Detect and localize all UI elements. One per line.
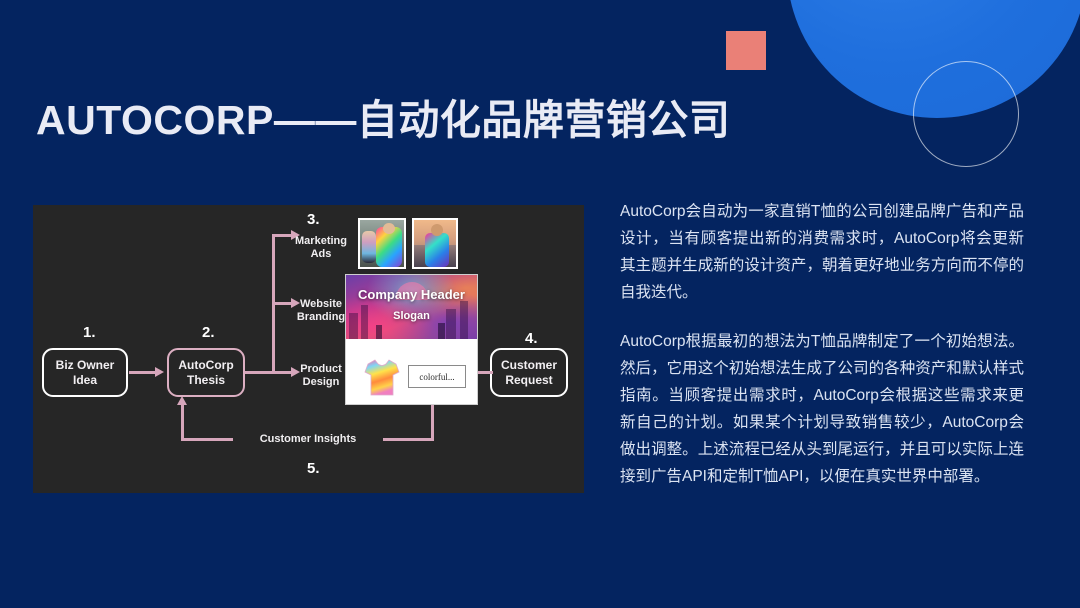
- node-customer-line2: Request: [505, 373, 552, 388]
- branch-marketing-line2: Ads: [281, 248, 361, 261]
- tshirt-icon: [364, 357, 400, 397]
- step-number-2: 2.: [202, 324, 215, 341]
- process-diagram: 1. 2. 3. 4. 5. Biz Owner Idea AutoCorp T…: [33, 205, 584, 493]
- connector-feedback-up: [181, 404, 184, 441]
- website-hero-image: Company Header Slogan: [346, 275, 477, 339]
- node-biz-owner-line2: Idea: [73, 373, 97, 388]
- ring-circle: [913, 61, 1019, 167]
- body-paragraph-1: AutoCorp会自动为一家直销T恤的公司创建品牌广告和产品设计，当有顾客提出新…: [620, 199, 1024, 307]
- step-number-5: 5.: [307, 460, 320, 477]
- step-number-4: 4.: [525, 330, 538, 347]
- page-title: AUTOCORP——自动化品牌营销公司: [36, 86, 730, 146]
- branch-marketing-line1: Marketing: [281, 235, 361, 248]
- connector-biz-to-autocorp: [129, 371, 157, 374]
- ad-photo-man-tiedye: [412, 218, 458, 269]
- node-autocorp-thesis[interactable]: AutoCorp Thesis: [167, 348, 245, 397]
- step-number-3: 3.: [307, 211, 320, 228]
- hero-figure-1: [376, 325, 382, 339]
- website-branding-card: Company Header Slogan colorfu: [345, 274, 478, 405]
- node-customer-request[interactable]: Customer Request: [490, 348, 568, 397]
- hero-figure-2: [438, 323, 445, 339]
- node-biz-owner-line1: Biz Owner: [56, 358, 115, 373]
- step-number-1: 1.: [83, 324, 96, 341]
- node-biz-owner-idea[interactable]: Biz Owner Idea: [42, 348, 128, 397]
- body-paragraph-2: AutoCorp根据最初的想法为T恤品牌制定了一个初始想法。然后，它用这个初始想…: [620, 329, 1024, 491]
- slide-canvas: AUTOCORP——自动化品牌营销公司 1. 2. 3. 4. 5. Biz O…: [0, 0, 1080, 608]
- arrow-biz-to-autocorp: [155, 367, 164, 377]
- website-slogan-text: Slogan: [346, 310, 477, 322]
- node-customer-line1: Customer: [501, 358, 557, 373]
- ad-photo-couple-tiedye: [358, 218, 406, 269]
- branch-label-marketing: Marketing Ads: [281, 235, 361, 262]
- node-autocorp-line1: AutoCorp: [178, 358, 233, 373]
- body-copy: AutoCorp会自动为一家直销T恤的公司创建品牌广告和产品设计，当有顾客提出新…: [620, 199, 1024, 513]
- coral-square: [726, 31, 766, 70]
- connector-autocorp-out: [245, 371, 275, 374]
- node-autocorp-line2: Thesis: [187, 373, 225, 388]
- arrow-feedback-to-autocorp: [177, 396, 187, 405]
- feedback-label: Customer Insights: [233, 432, 383, 447]
- keyword-chip[interactable]: colorful...: [408, 365, 466, 388]
- website-header-text: Company Header: [346, 287, 477, 302]
